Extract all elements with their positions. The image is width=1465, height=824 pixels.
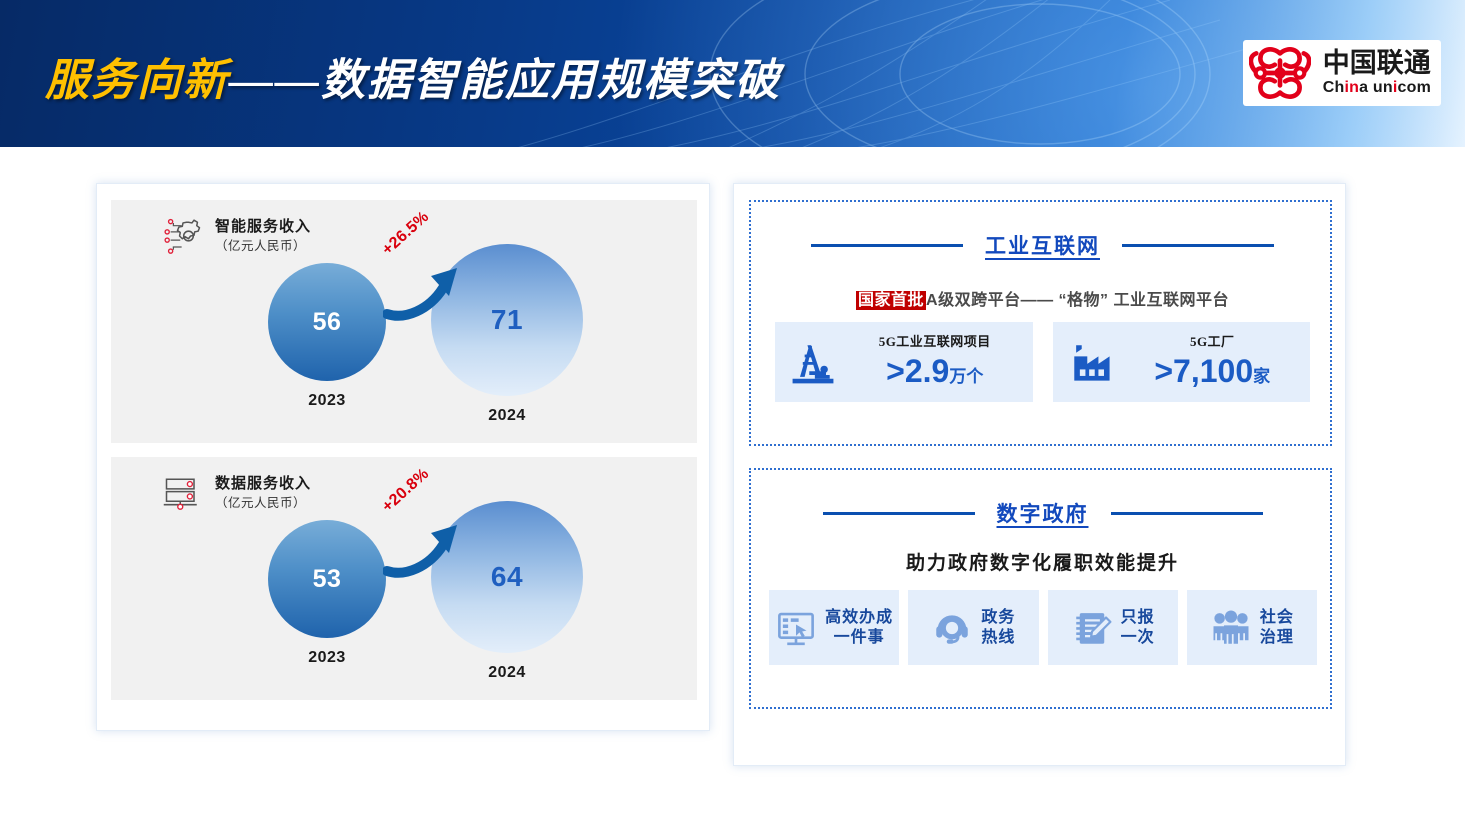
growth-indicator: +20.8% — [383, 499, 479, 587]
tile-label-line1: 高效办成 — [825, 609, 893, 626]
rule-right — [1111, 512, 1263, 515]
left-panel: 智能服务收入 （亿元人民币） 56 2023 71 2024 — [96, 183, 710, 731]
tile-label-line2: 一件事 — [834, 629, 885, 646]
section-title: 数字政府 — [997, 498, 1089, 528]
tile-label-line2: 一次 — [1121, 629, 1155, 646]
bubble-value: 71 — [491, 304, 523, 336]
section-subtitle: 国家首批A级双跨平台—— “格物” 工业互联网平台 — [751, 286, 1334, 310]
oil-derrick-icon — [787, 336, 839, 388]
tile-report-once: 只报一次 — [1048, 590, 1178, 665]
bubble-previous-year: 53 — [268, 520, 386, 638]
headset-icon — [931, 607, 973, 649]
bubble-year-current: 2024 — [431, 664, 583, 682]
subtitle-rest: A级双跨平台—— “格物” 工业互联网平台 — [926, 292, 1229, 309]
tile-label: 只报一次 — [1121, 608, 1155, 648]
tile-label: 政务热线 — [981, 608, 1015, 648]
right-panel: 工业互联网 国家首批A级双跨平台—— “格物” 工业互联网平台 — [733, 183, 1346, 766]
china-unicom-knot-icon — [1249, 45, 1311, 101]
bubble-value: 56 — [313, 308, 342, 337]
page-title-gold: 服务向新 — [45, 56, 229, 105]
tile-row: 高效办成一件事 政务热线 — [769, 590, 1317, 665]
tile-label-line1: 只报 — [1121, 609, 1155, 626]
stat-row: 5G工业互联网项目 >2.9万个 — [775, 322, 1310, 402]
section-title-row: 数字政府 — [751, 498, 1334, 528]
rule-left — [811, 244, 963, 247]
stat-number: >7,100 — [1154, 353, 1253, 389]
monitor-cursor-icon — [775, 607, 817, 649]
rule-left — [823, 512, 975, 515]
tile-efficient-service: 高效办成一件事 — [769, 590, 899, 665]
bubble-previous-year: 56 — [268, 263, 386, 381]
metric-unit: （亿元人民币） — [215, 496, 311, 512]
section-title: 工业互联网 — [985, 230, 1100, 260]
section-subtitle: 助力政府数字化履职效能提升 — [751, 548, 1334, 575]
tile-label-line1: 社会 — [1260, 609, 1294, 626]
slide-body: 智能服务收入 （亿元人民币） 56 2023 71 2024 — [0, 147, 1465, 824]
gear-circuit-icon — [161, 216, 205, 256]
metric-title: 数据服务收入 — [215, 475, 311, 494]
section-digital-government: 数字政府 助力政府数字化履职效能提升 — [749, 468, 1332, 709]
bubble-value: 53 — [313, 565, 342, 594]
bubble-year-previous: 2023 — [268, 392, 386, 410]
growth-indicator: +26.5% — [383, 242, 479, 330]
tile-gov-hotline: 政务热线 — [908, 590, 1038, 665]
tile-social-governance: 社会治理 — [1187, 590, 1317, 665]
page-title: 服务向新——数据智能应用规模突破 — [45, 44, 781, 108]
bubble-value: 64 — [491, 561, 523, 593]
tile-label-line1: 政务 — [981, 609, 1015, 626]
clipboard-pen-icon — [1071, 607, 1113, 649]
tile-label-line2: 治理 — [1260, 629, 1294, 646]
stat-label: 5G工厂 — [1127, 335, 1299, 349]
metric-card-intelligent-service: 智能服务收入 （亿元人民币） 56 2023 71 2024 — [111, 200, 697, 443]
logo-text-en: China unicom — [1323, 80, 1431, 96]
brand-logo: 中国联通 China unicom — [1243, 40, 1441, 106]
subtitle-highlight: 国家首批 — [856, 291, 926, 310]
stat-box-5g-factories: 5G工厂 >7,100家 — [1053, 322, 1311, 402]
section-industrial-internet: 工业互联网 国家首批A级双跨平台—— “格物” 工业互联网平台 — [749, 200, 1332, 446]
slide-header: 服务向新——数据智能应用规模突破 — [0, 0, 1465, 147]
growth-arrow-icon — [383, 242, 479, 330]
rule-right — [1122, 244, 1274, 247]
stat-label: 5G工业互联网项目 — [849, 335, 1021, 349]
metric-unit: （亿元人民币） — [215, 239, 311, 255]
factory-icon — [1065, 336, 1117, 388]
section-title-row: 工业互联网 — [751, 230, 1334, 260]
stat-value: >7,100家 — [1127, 354, 1299, 389]
metric-title: 智能服务收入 — [215, 218, 311, 237]
bubble-year-current: 2024 — [431, 407, 583, 425]
growth-arrow-icon — [383, 499, 479, 587]
stat-suffix: 万个 — [949, 367, 983, 386]
stat-value: >2.9万个 — [849, 354, 1021, 389]
tile-label-line2: 热线 — [981, 629, 1015, 646]
metric-header: 智能服务收入 （亿元人民币） — [161, 216, 311, 256]
metric-card-data-service: 数据服务收入 （亿元人民币） 53 2023 64 2024 — [111, 457, 697, 700]
stat-number: >2.9 — [886, 353, 949, 389]
bubble-year-previous: 2023 — [268, 649, 386, 667]
tile-label: 高效办成一件事 — [825, 608, 893, 648]
stat-suffix: 家 — [1253, 367, 1270, 386]
metric-header: 数据服务收入 （亿元人民币） — [161, 473, 311, 513]
logo-text-cn: 中国联通 — [1323, 50, 1431, 77]
page-title-white: ——数据智能应用规模突破 — [229, 56, 781, 105]
server-stack-icon — [161, 473, 205, 513]
slide-root: 服务向新——数据智能应用规模突破 — [0, 0, 1465, 824]
tile-label: 社会治理 — [1260, 608, 1294, 648]
people-group-icon — [1210, 607, 1252, 649]
stat-box-5g-projects: 5G工业互联网项目 >2.9万个 — [775, 322, 1033, 402]
